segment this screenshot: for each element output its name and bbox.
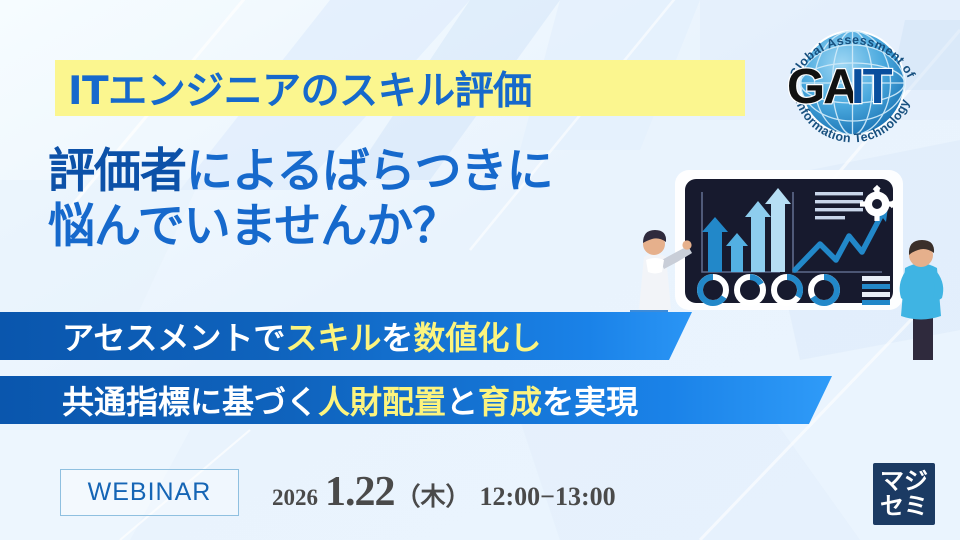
headline-emphasis: 評価者	[48, 144, 186, 199]
banner1-seg-2: スキル	[285, 313, 381, 359]
event-day-of-week: （木）	[396, 477, 471, 513]
webinar-badge: WEBINAR	[60, 469, 239, 516]
banner-bar-1: アセスメントでスキルを数値化し	[0, 312, 692, 360]
banner-bar-2: 共通指標に基づく人財配置と育成を実現	[0, 376, 832, 424]
gait-wordmark: GA IT	[787, 60, 893, 114]
event-year: 2026	[272, 485, 318, 511]
gait-logo-svg: Global Assessment of Information Technol…	[775, 18, 930, 148]
banner2-seg-3: と	[446, 377, 478, 423]
headline-line-1: 評価者によるばらつきに	[48, 144, 553, 199]
majisemi-line-2: セミ	[880, 494, 928, 519]
headline-line-1-rest: によるばらつきに	[186, 144, 553, 199]
svg-text:IT: IT	[851, 60, 893, 114]
majisemi-line-1: マジ	[880, 469, 928, 494]
banner2-seg-1: 共通指標に基づく	[62, 377, 318, 423]
svg-text:GA: GA	[787, 60, 858, 114]
event-datetime: 2026 1.22 （木） 12:00−13:00	[272, 468, 616, 516]
banner2-seg-4: 育成	[478, 377, 542, 423]
banner2-seg-2: 人財配置	[318, 377, 446, 423]
gait-logo: Global Assessment of Information Technol…	[775, 18, 930, 148]
banner1-seg-4: 数値化し	[413, 313, 541, 359]
banner1-seg-1: アセスメントで	[62, 313, 285, 359]
highlight-heading-text: ITエンジニアのスキル評価	[68, 61, 740, 115]
majisemi-logo: マジ セミ	[873, 463, 935, 525]
headline-line-2: 悩んでいませんか？	[48, 200, 688, 255]
webinar-poster: Global Assessment of Information Technol…	[0, 0, 960, 540]
page-title: 評価者によるばらつきに 悩んでいませんか？	[48, 145, 688, 254]
observer-figure	[900, 240, 944, 360]
event-day: 1.22	[325, 468, 395, 516]
banner1-seg-3: を	[381, 313, 413, 359]
event-time: 12:00−13:00	[480, 482, 616, 512]
banner2-seg-5: を実現	[542, 377, 638, 423]
